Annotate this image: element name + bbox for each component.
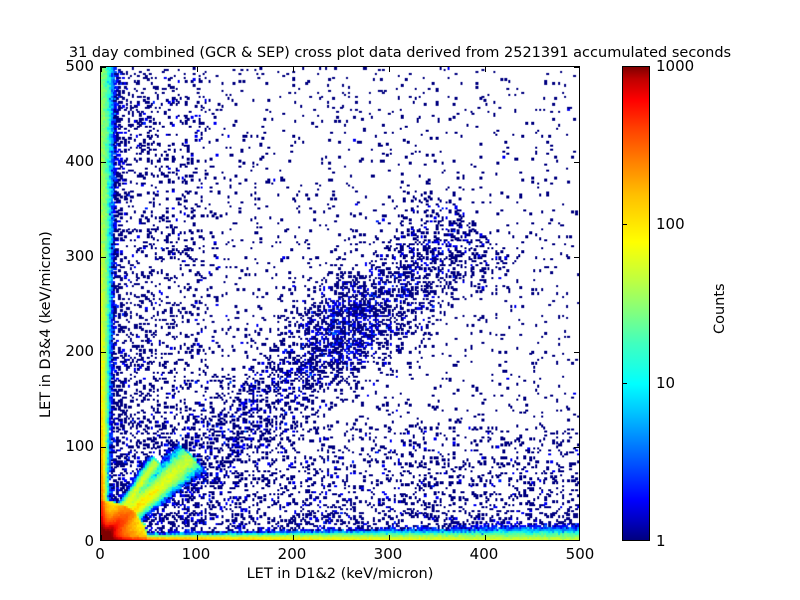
x-tick-400: [485, 535, 486, 540]
y-tick-100: [574, 447, 579, 448]
x-tick-label-500: 500: [566, 545, 595, 563]
x-tick-0: [101, 535, 102, 540]
x-tick-label-400: 400: [470, 545, 499, 563]
colorbar-tick-10: [622, 383, 627, 384]
y-tick-label-0: 0: [84, 532, 94, 550]
y-tick-400: [101, 162, 106, 163]
y-axis-label: LET in D3&4 (keV/micron): [38, 231, 54, 418]
colorbar-tick-label-1: 1: [656, 532, 666, 550]
y-tick-500: [101, 67, 106, 68]
x-tick-label-100: 100: [182, 545, 211, 563]
plot-area: [100, 66, 580, 541]
colorbar-tick-label-1000: 1000: [656, 57, 694, 75]
colorbar: [622, 66, 650, 541]
y-tick-100: [101, 447, 106, 448]
x-tick-100: [197, 535, 198, 540]
x-tick-200: [293, 67, 294, 72]
x-tick-400: [485, 67, 486, 72]
density-heatmap: [101, 67, 579, 540]
y-tick-label-200: 200: [65, 342, 94, 360]
y-tick-400: [574, 162, 579, 163]
colorbar-tick-label-10: 10: [656, 374, 675, 392]
colorbar-tick-label-100: 100: [656, 215, 685, 233]
y-tick-200: [101, 352, 106, 353]
x-tick-200: [293, 535, 294, 540]
x-tick-300: [389, 535, 390, 540]
x-tick-label-300: 300: [374, 545, 403, 563]
y-tick-300: [574, 257, 579, 258]
y-tick-300: [101, 257, 106, 258]
x-tick-label-0: 0: [95, 545, 105, 563]
y-tick-500: [574, 67, 579, 68]
y-tick-label-500: 500: [65, 57, 94, 75]
y-tick-label-300: 300: [65, 247, 94, 265]
colorbar-label: Counts: [712, 283, 728, 334]
y-tick-label-400: 400: [65, 152, 94, 170]
figure: 31 day combined (GCR & SEP) cross plot d…: [0, 0, 800, 600]
x-tick-label-200: 200: [278, 545, 307, 563]
x-tick-100: [197, 67, 198, 72]
y-tick-label-100: 100: [65, 437, 94, 455]
x-tick-300: [389, 67, 390, 72]
y-tick-200: [574, 352, 579, 353]
x-axis-label: LET in D1&2 (keV/micron): [100, 566, 580, 582]
colorbar-tick-100: [622, 224, 627, 225]
